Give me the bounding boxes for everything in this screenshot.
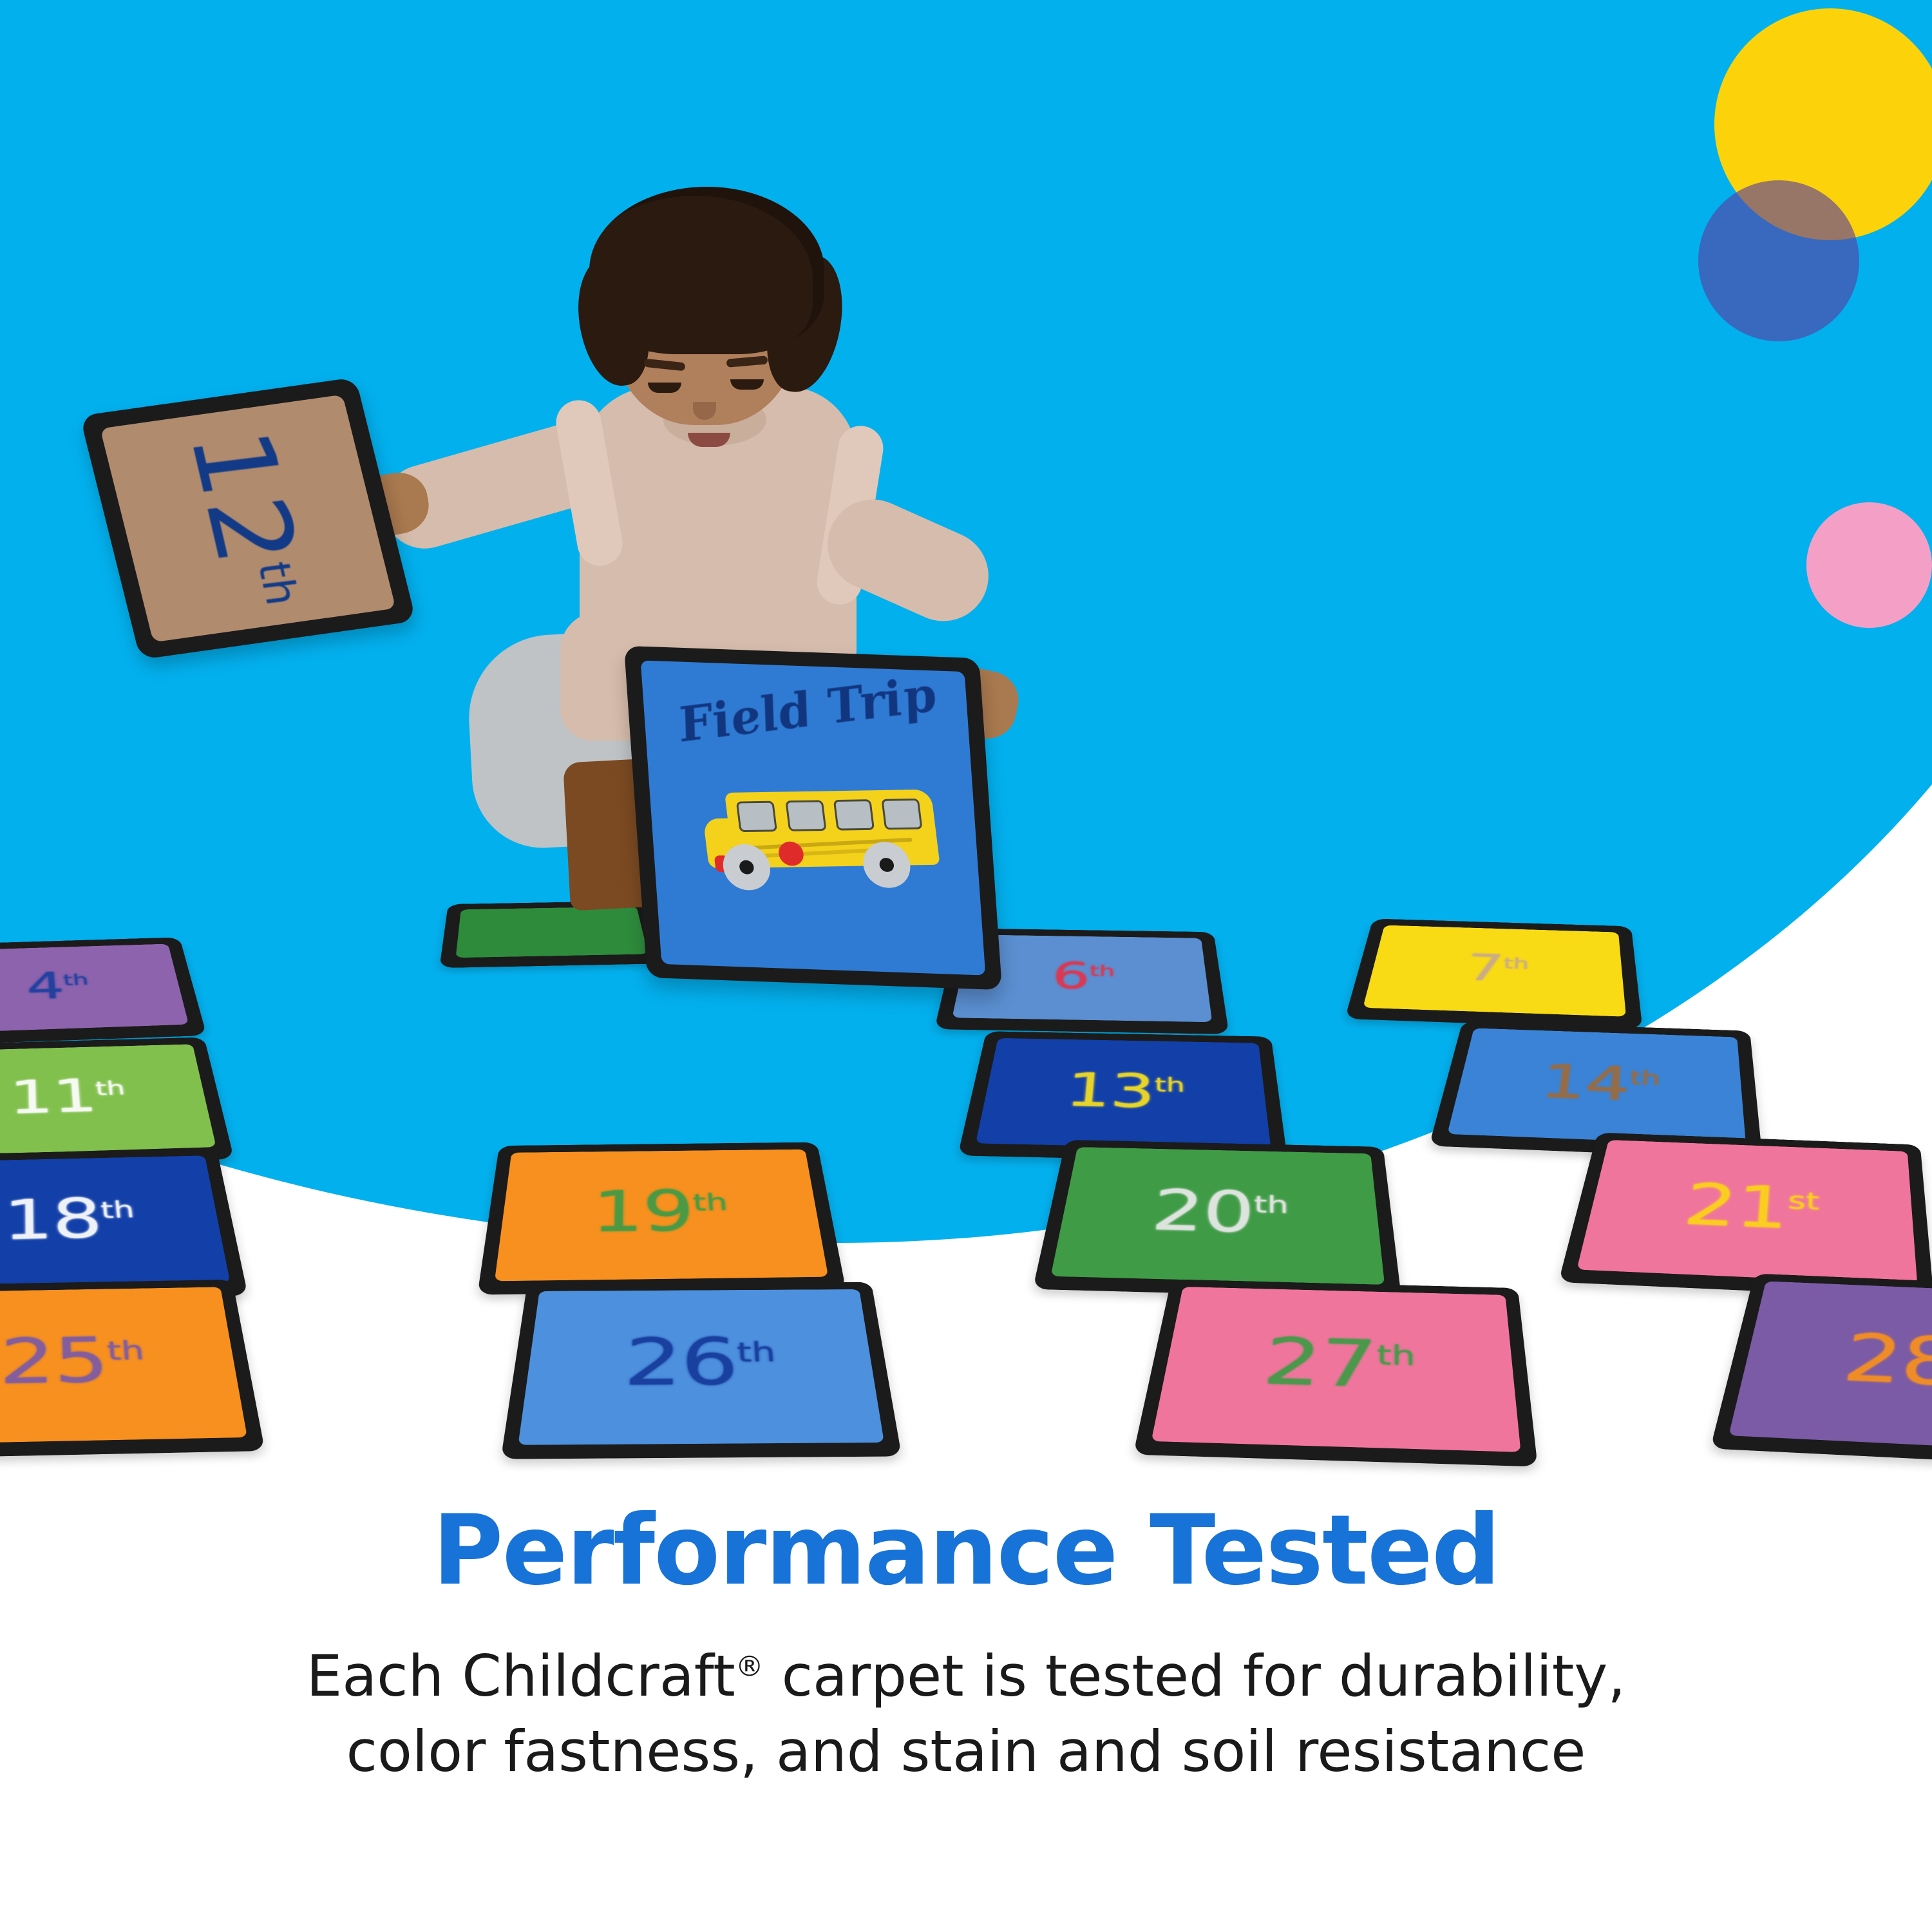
carpet-number: 18th (3, 1191, 138, 1248)
subline: Each Childcraft® carpet is tested for du… (0, 1638, 1932, 1790)
subline-line-1: Each Childcraft® carpet is tested for du… (0, 1638, 1932, 1714)
carpet-7th: 7th (1345, 918, 1642, 1029)
carpet-green-blank (439, 901, 665, 969)
carpet-number: 21st (1680, 1177, 1819, 1239)
carpet-number: 4th (26, 967, 91, 1005)
headline: Performance Tested (0, 1501, 1932, 1602)
carpet-number: 13th (1063, 1066, 1186, 1115)
carpet-face: Field Trip (641, 660, 986, 975)
bus-window (833, 799, 875, 831)
carpet-number: 28th (1839, 1326, 1932, 1398)
carpet-face: 14th (1447, 1028, 1746, 1146)
registered-mark: ® (735, 1650, 764, 1683)
carpet-number: 26th (623, 1330, 779, 1396)
text-block: Performance Tested Each Childcraft® carp… (0, 1501, 1932, 1790)
carpet-25th: 25th (0, 1280, 265, 1459)
bus-window (785, 800, 826, 831)
carpet-number: 6th (1051, 958, 1115, 995)
carpet-face: 12th (100, 395, 395, 643)
pink-circle-decoration (1806, 502, 1932, 628)
marketing-image: 4th 11th 18th 25th 19th 26th 6th (0, 0, 1932, 1932)
field-trip-title: Field Trip (673, 667, 942, 753)
carpet-field-trip: Field Trip (624, 646, 1002, 990)
carpet-27th: 27th (1133, 1279, 1538, 1466)
carpet-face: 25th (0, 1287, 247, 1444)
carpet-number: 12th (173, 423, 322, 614)
carpet-21st: 21st (1558, 1133, 1932, 1299)
purple-circle-decoration (1698, 180, 1859, 341)
carpet-number: 25th (0, 1329, 148, 1393)
carpet-face: 20th (1050, 1147, 1385, 1285)
carpet-19th: 19th (477, 1142, 846, 1295)
carpet-face: 11th (0, 1044, 216, 1155)
carpet-number: 20th (1149, 1182, 1289, 1242)
carpet-face (456, 906, 649, 958)
carpet-26th: 26th (501, 1282, 902, 1459)
carpet-face: 21st (1577, 1140, 1917, 1285)
child-eye-left (648, 383, 681, 393)
carpet-number: 19th (591, 1183, 731, 1241)
carpet-number: 7th (1464, 949, 1529, 987)
child-hair (589, 187, 824, 354)
carpet-face: 27th (1151, 1287, 1521, 1452)
carpet-face: 4th (0, 944, 189, 1034)
carpet-4th: 4th (0, 937, 207, 1045)
carpet-28th: 28th (1710, 1273, 1932, 1468)
carpet-face: 28th (1728, 1281, 1932, 1454)
carpet-face: 7th (1363, 925, 1626, 1017)
carpet-20th: 20th (1033, 1140, 1402, 1299)
carpet-12th-held: 12th (80, 377, 417, 660)
carpet-face: 18th (0, 1155, 230, 1291)
child-eye-right (730, 379, 764, 390)
subline-part2: carpet is tested for durability, (764, 1643, 1626, 1709)
bus-window (881, 799, 922, 830)
carpet-number: 27th (1260, 1330, 1416, 1399)
subline-line-2: color fastness, and stain and soil resis… (0, 1714, 1932, 1790)
bus-window (736, 801, 777, 833)
carpet-face: 13th (976, 1038, 1271, 1150)
carpet-face: 19th (495, 1150, 828, 1282)
subline-part1: Each Childcraft (307, 1643, 735, 1709)
carpet-number: 14th (1537, 1058, 1660, 1109)
school-bus-icon (693, 773, 947, 889)
carpet-face: 26th (518, 1289, 884, 1445)
carpet-number: 11th (9, 1073, 129, 1122)
